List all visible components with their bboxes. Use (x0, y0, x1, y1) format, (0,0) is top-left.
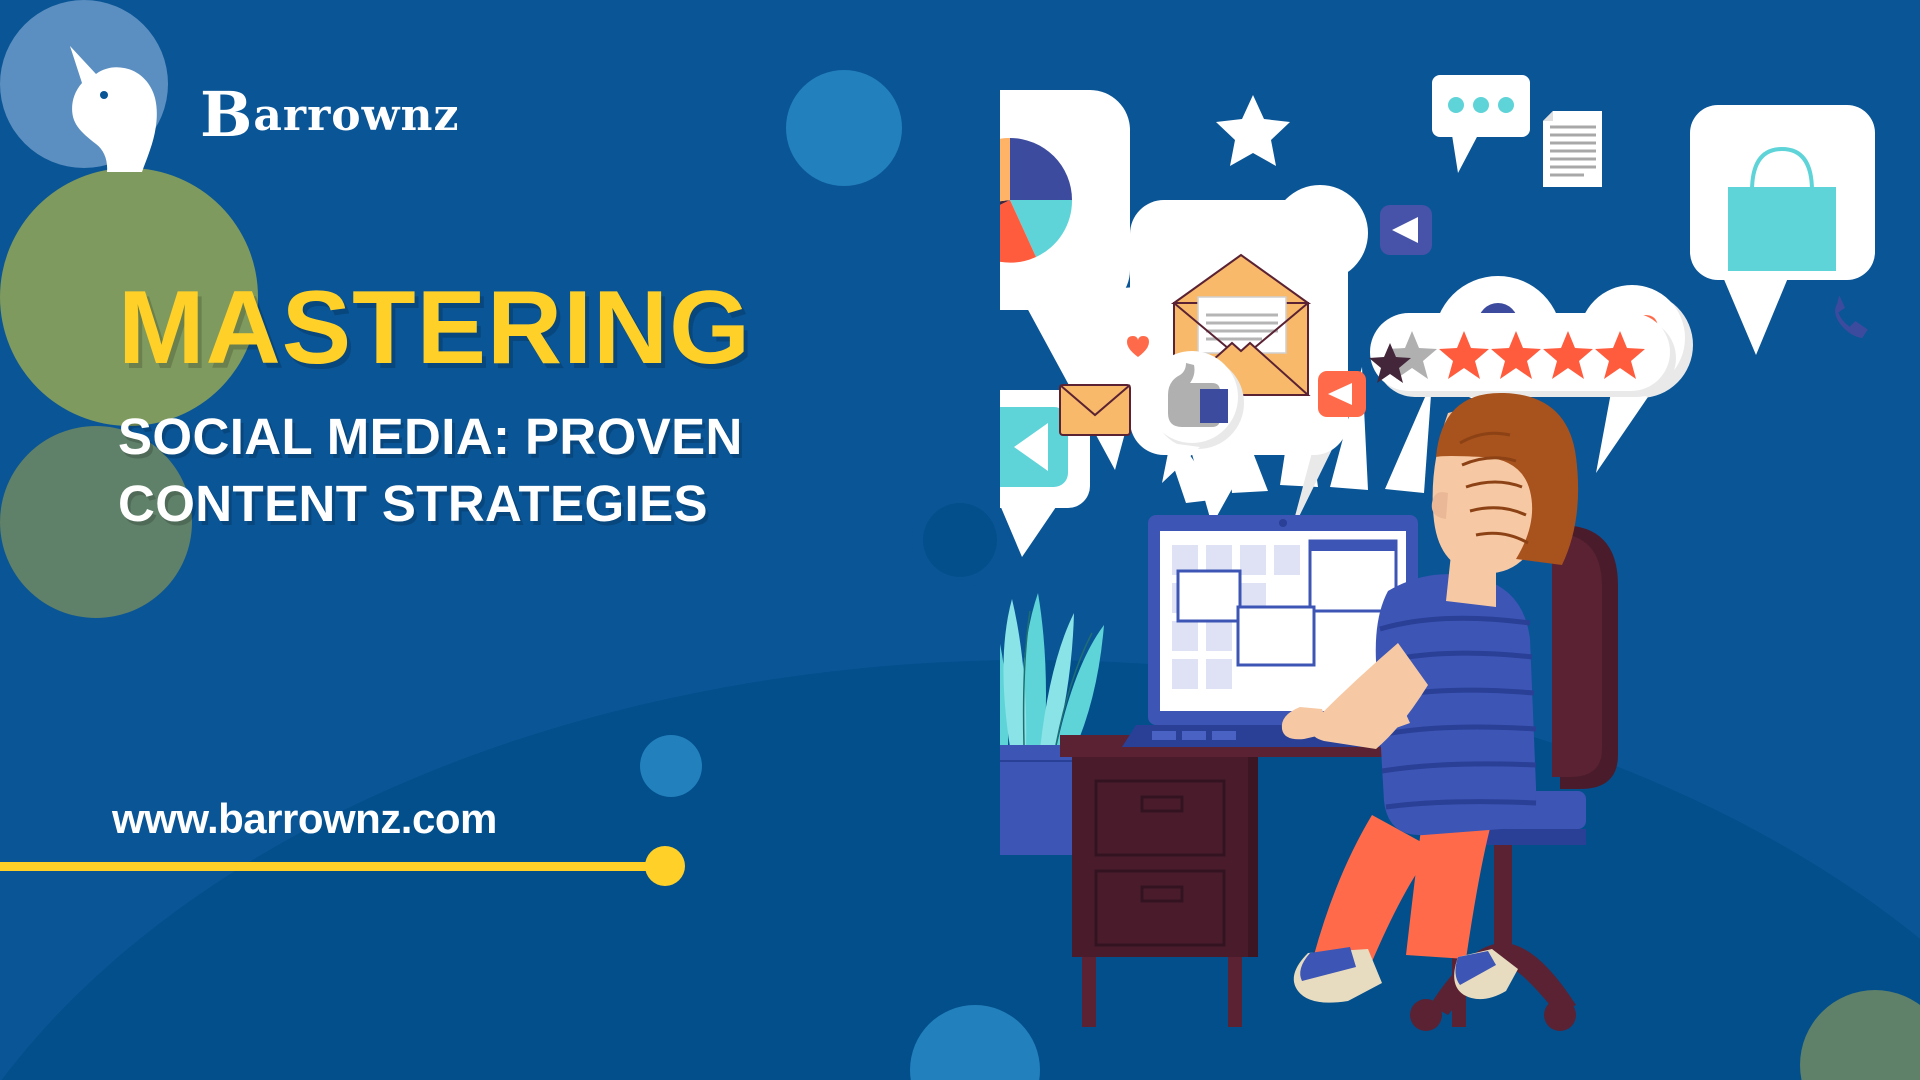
chat-bubble-dots-icon (1432, 75, 1530, 173)
url-underline-dot (645, 846, 685, 886)
star-icon (1216, 95, 1290, 166)
shopping-bag-icon (1690, 105, 1875, 355)
headline-primary: MASTERING (118, 275, 878, 381)
headline-secondary-line-2: CONTENT STRATEGIES (118, 470, 878, 537)
headline-block: MASTERING SOCIAL MEDIA: PROVEN CONTENT S… (118, 275, 878, 538)
play-button-icon (1380, 205, 1432, 255)
envelope-mid-icon (1060, 385, 1130, 435)
url-underline-rule (0, 862, 655, 871)
star-rating-icon (1370, 313, 1676, 397)
brand-wordmark: Barrownz (200, 84, 459, 146)
social-media-illustration (1000, 55, 1920, 1080)
banner-canvas: Barrownz MASTERING SOCIAL MEDIA: PROVEN … (0, 0, 1920, 1080)
decorative-circle-middle (640, 735, 702, 797)
brand-wordmark-initial: B (200, 78, 253, 151)
document-lines-icon (1543, 111, 1602, 187)
phone-loose-icon (1835, 295, 1868, 338)
website-url[interactable]: www.barrownz.com (112, 795, 497, 843)
decorative-circle-top (786, 70, 902, 186)
headline-secondary-line-1: SOCIAL MEDIA: PROVEN (118, 403, 878, 470)
unicorn-head-icon (52, 38, 192, 178)
play-card-orange-icon (1318, 371, 1366, 417)
brand-wordmark-rest: arrownz (253, 90, 459, 141)
brand-logo[interactable]: Barrownz (52, 38, 352, 173)
